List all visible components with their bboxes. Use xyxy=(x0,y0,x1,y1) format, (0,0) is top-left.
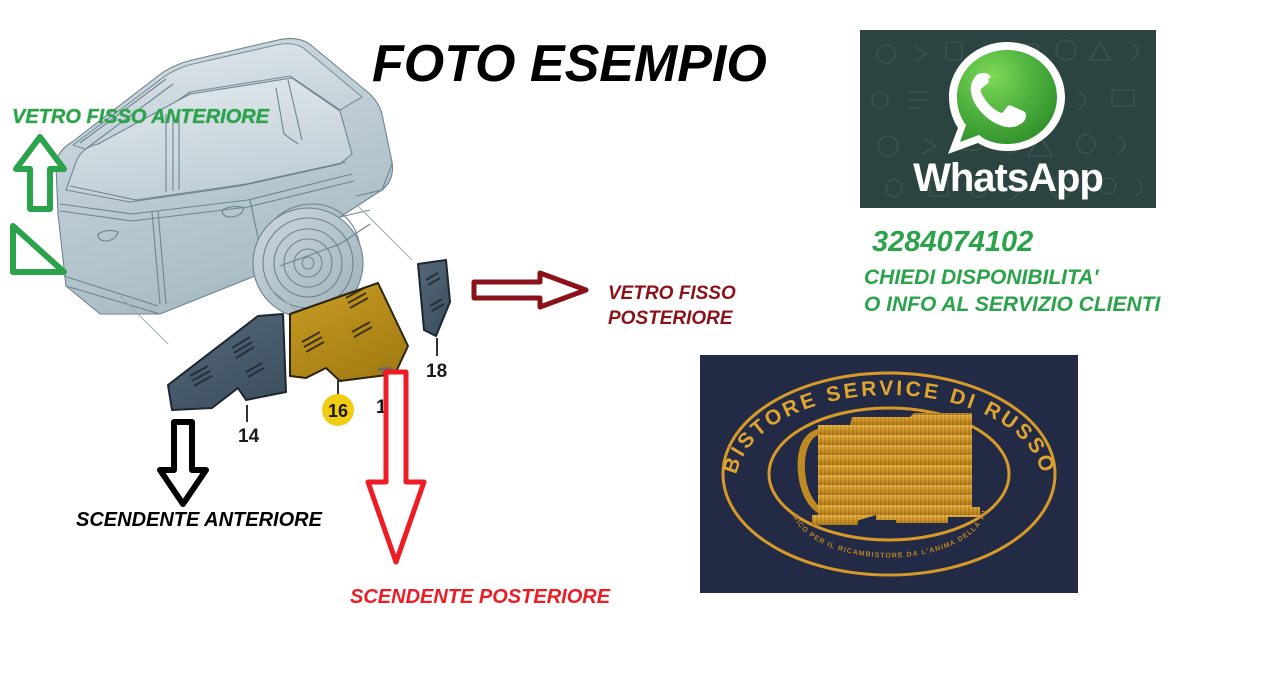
up-arrow-green-icon xyxy=(10,133,70,213)
contact-note-line1: CHIEDI DISPONIBILITA' xyxy=(864,264,1160,291)
page-title: FOTO ESEMPIO xyxy=(372,34,767,94)
label-vetro-fisso-posteriore-line2: POSTERIORE xyxy=(608,306,736,331)
right-arrow-darkred-icon xyxy=(470,270,590,310)
down-arrow-red-icon xyxy=(362,368,430,568)
shop-logo: MRICAMBISTORE SERVICE DI RUSSO MARCO IL … xyxy=(700,355,1078,593)
down-arrow-black-icon xyxy=(156,418,210,508)
label-scendente-anteriore: SCENDENTE ANTERIORE xyxy=(76,509,322,532)
phone-number[interactable]: 3284074102 xyxy=(872,226,1033,259)
part-number-16-text: 16 xyxy=(328,401,348,421)
label-vetro-fisso-posteriore: VETRO FISSO POSTERIORE xyxy=(608,281,736,331)
whatsapp-wordmark: WhatsApp xyxy=(860,156,1156,201)
whatsapp-icon xyxy=(934,38,1072,160)
contact-note-line2: O INFO AL SERVIZIO CLIENTI xyxy=(864,291,1160,318)
label-vetro-fisso-anteriore: VETRO FISSO ANTERIORE xyxy=(12,106,269,129)
part-14-shape xyxy=(168,314,286,422)
shop-logo-monogram xyxy=(798,413,980,525)
screenshot-canvas: 14 17 xyxy=(0,0,1264,678)
contact-note: CHIEDI DISPONIBILITA' O INFO AL SERVIZIO… xyxy=(864,264,1160,318)
label-scendente-posteriore: SCENDENTE POSTERIORE xyxy=(350,586,610,609)
label-vetro-fisso-posteriore-line1: VETRO FISSO xyxy=(608,281,736,306)
whatsapp-banner[interactable]: WhatsApp xyxy=(860,30,1156,208)
part-number-16-badge: 16 xyxy=(322,394,354,426)
part-18-shape xyxy=(418,260,450,356)
part-number-14-text: 14 xyxy=(238,426,260,447)
triangle-green-icon xyxy=(8,222,68,277)
